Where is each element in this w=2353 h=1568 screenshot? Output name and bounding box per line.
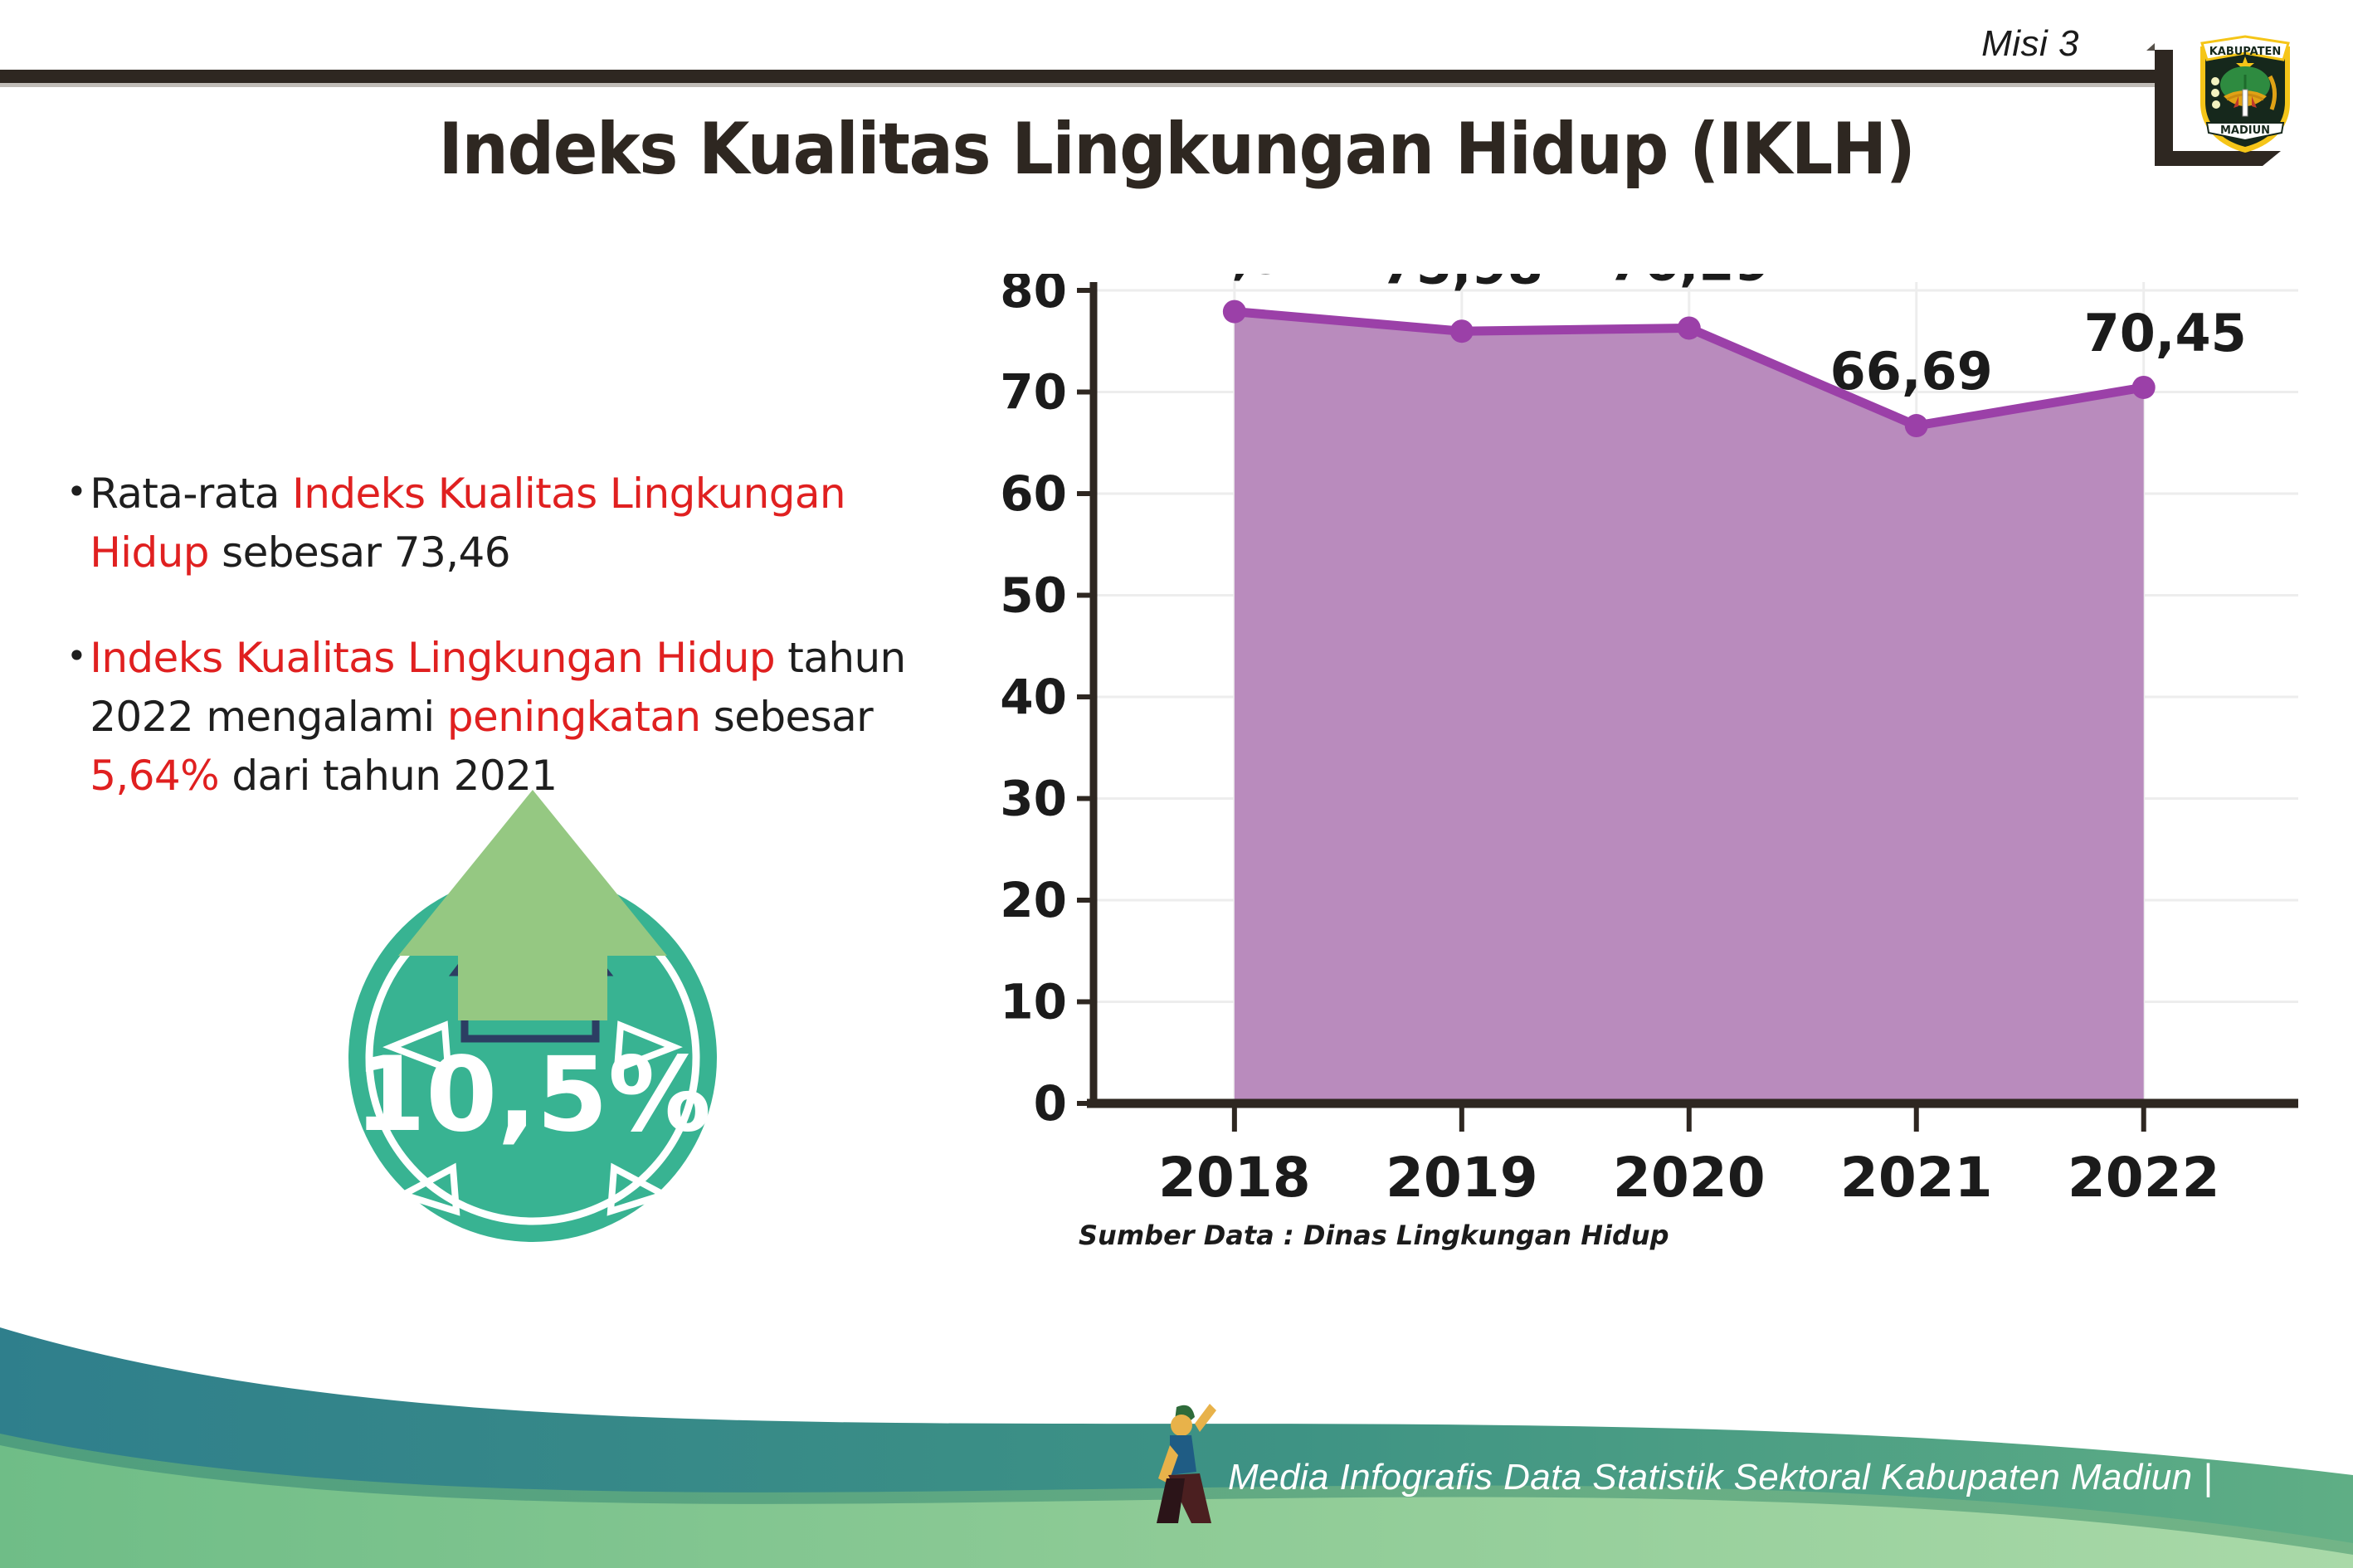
y-axis-tick-label: 10 — [1000, 974, 1067, 1030]
source-note: Sumber Data : Dinas Lingkungan Hidup — [1079, 1220, 1669, 1251]
crest-top-text: KABUPATEN — [2209, 46, 2282, 58]
chart-area-fill — [1235, 312, 2144, 1103]
y-axis-tick-label: 40 — [1000, 669, 1067, 725]
footer-label: Media Infografis Data Statistik Sektoral… — [1228, 1457, 2213, 1498]
y-axis-tick-label: 50 — [1000, 567, 1067, 624]
badge-value: 10,5% — [354, 1035, 711, 1155]
x-axis-tick-label: 2021 — [1840, 1146, 1993, 1203]
data-label: 75,98 — [1381, 274, 1543, 295]
bullet-seg: sebesar 73,46 — [209, 528, 510, 577]
y-axis-tick-label: 60 — [1000, 465, 1067, 522]
data-point — [1905, 414, 1928, 437]
increase-badge: 10,5% — [315, 722, 747, 1253]
y-axis-tick-label: 70 — [1000, 364, 1067, 421]
mission-label: Misi 3 — [1981, 23, 2079, 65]
data-label: 70,45 — [2084, 303, 2247, 363]
bullet-marker: • — [66, 465, 86, 519]
bullet-seg: Rata-rata — [90, 470, 292, 518]
data-point — [1450, 319, 1474, 343]
chart-y-axis-labels: 01020304050607080 — [1000, 274, 1067, 1132]
bullet-seg-highlight: Indeks Kualitas Lingkungan Hidup — [90, 634, 775, 682]
infographic-slide: Misi 3 KABUPATEN MADIUN Indeks Kualitas … — [0, 0, 2353, 1568]
page-title: Indeks Kualitas Lingkungan Hidup (IKLH) — [94, 108, 2258, 191]
x-axis-tick-label: 2020 — [1613, 1146, 1766, 1203]
y-axis-tick-label: 0 — [1034, 1075, 1067, 1132]
bullet-text-1: Rata-rata Indeks Kualitas Lingkungan Hid… — [90, 465, 946, 582]
y-axis-tick-label: 30 — [1000, 771, 1067, 827]
bullet-marker: • — [66, 629, 86, 683]
chart-x-axis-labels: 20182019202020212022 — [1158, 1146, 2220, 1203]
x-axis-tick-label: 2019 — [1386, 1146, 1538, 1203]
y-axis-tick-label: 80 — [1000, 274, 1067, 319]
data-label: 77,91 — [1160, 274, 1323, 286]
x-axis-tick-label: 2022 — [2068, 1146, 2220, 1203]
data-point — [1223, 300, 1246, 324]
data-label: 76,29 — [1608, 274, 1771, 292]
list-item: • Rata-rata Indeks Kualitas Lingkungan H… — [66, 465, 946, 582]
statistik-mascot-icon — [1145, 1395, 1236, 1528]
y-axis-tick-label: 20 — [1000, 872, 1067, 928]
iklh-area-chart: 01020304050607080 20182019202020212022 7… — [971, 274, 2298, 1203]
header-rule — [0, 70, 2155, 83]
data-point — [2132, 376, 2156, 399]
bullet-seg-highlight: 5,64% — [90, 752, 219, 800]
data-label: 66,69 — [1830, 341, 1993, 402]
x-axis-tick-label: 2018 — [1158, 1146, 1311, 1203]
data-point — [1678, 316, 1701, 339]
